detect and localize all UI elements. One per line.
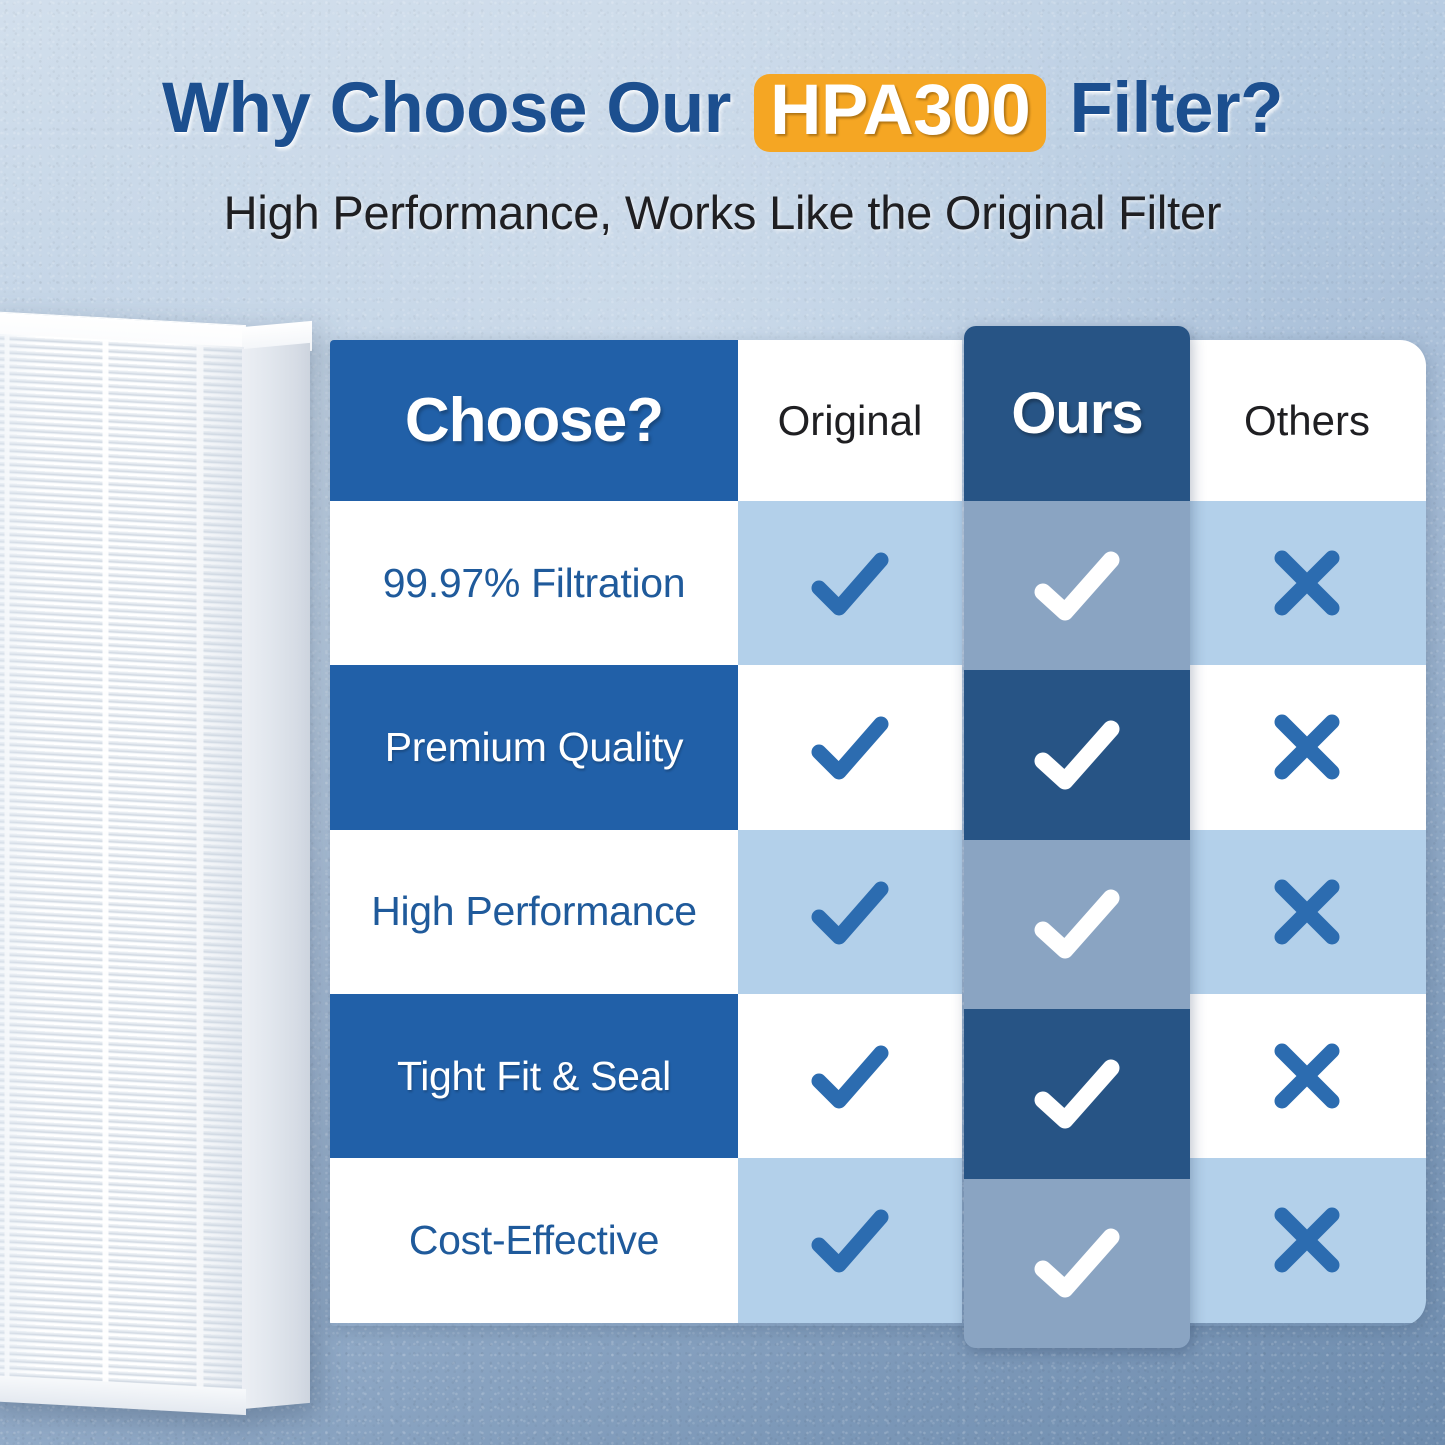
cell-ours-cost-effective — [964, 1179, 1190, 1348]
cell-original-tight-fit-seal — [738, 994, 962, 1158]
table-row: High Performance — [330, 830, 1426, 994]
filter-pleated-front — [0, 333, 244, 1402]
check-icon — [807, 1039, 893, 1113]
cell-others-filtration — [1188, 501, 1426, 665]
row-label-tight-fit-seal: Tight Fit & Seal — [330, 994, 738, 1158]
ours-column-header: Ours — [964, 326, 1190, 501]
cell-original-premium-quality — [738, 665, 962, 829]
cross-icon — [1267, 1036, 1347, 1116]
check-icon — [807, 546, 893, 620]
cell-others-cost-effective — [1188, 1158, 1426, 1322]
comparison-table: Choose? Original Others 99.97% Filtratio… — [330, 340, 1426, 1326]
table-header-others: Others — [1188, 340, 1426, 501]
page-title: Why Choose Our HPA300 Filter? — [0, 72, 1445, 150]
table-header-original: Original — [738, 340, 962, 501]
cell-others-premium-quality — [1188, 665, 1426, 829]
check-icon — [807, 710, 893, 784]
check-icon — [807, 1203, 893, 1277]
check-icon — [1029, 884, 1125, 964]
promo-graphic: Why Choose Our HPA300 Filter? High Perfo… — [0, 0, 1445, 1445]
table-row: Cost-Effective — [330, 1158, 1426, 1322]
filter-side-face — [242, 343, 310, 1409]
cell-original-filtration — [738, 501, 962, 665]
check-icon — [1029, 715, 1125, 795]
check-icon — [1029, 1054, 1125, 1134]
check-icon — [1029, 1223, 1125, 1303]
row-label-filtration: 99.97% Filtration — [330, 501, 738, 665]
cell-others-high-performance — [1188, 830, 1426, 994]
headline-block: Why Choose Our HPA300 Filter? — [0, 72, 1445, 150]
row-label-high-performance: High Performance — [330, 830, 738, 994]
table-row: Tight Fit & Seal — [330, 994, 1426, 1158]
model-badge: HPA300 — [754, 74, 1046, 152]
cell-ours-tight-fit-seal — [964, 1009, 1190, 1178]
headline-text-before: Why Choose Our — [162, 69, 731, 148]
ours-highlight-column: Ours — [964, 326, 1190, 1348]
cross-icon — [1267, 543, 1347, 623]
page-subtitle: High Performance, Works Like the Origina… — [0, 185, 1445, 240]
cell-ours-filtration — [964, 501, 1190, 670]
row-label-premium-quality: Premium Quality — [330, 665, 738, 829]
cross-icon — [1267, 872, 1347, 952]
cell-original-cost-effective — [738, 1158, 962, 1322]
cell-ours-premium-quality — [964, 670, 1190, 839]
headline-text-after: Filter? — [1070, 69, 1283, 148]
check-icon — [1029, 546, 1125, 626]
cell-others-tight-fit-seal — [1188, 994, 1426, 1158]
check-icon — [807, 875, 893, 949]
hepa-filter-image — [0, 318, 314, 1408]
cross-icon — [1267, 707, 1347, 787]
row-label-cost-effective: Cost-Effective — [330, 1158, 738, 1322]
table-header-choose: Choose? — [330, 340, 738, 501]
cell-original-high-performance — [738, 830, 962, 994]
table-header-row: Choose? Original Others — [330, 340, 1426, 501]
cross-icon — [1267, 1200, 1347, 1280]
cell-ours-high-performance — [964, 840, 1190, 1009]
table-row: 99.97% Filtration — [330, 501, 1426, 665]
table-row: Premium Quality — [330, 665, 1426, 829]
